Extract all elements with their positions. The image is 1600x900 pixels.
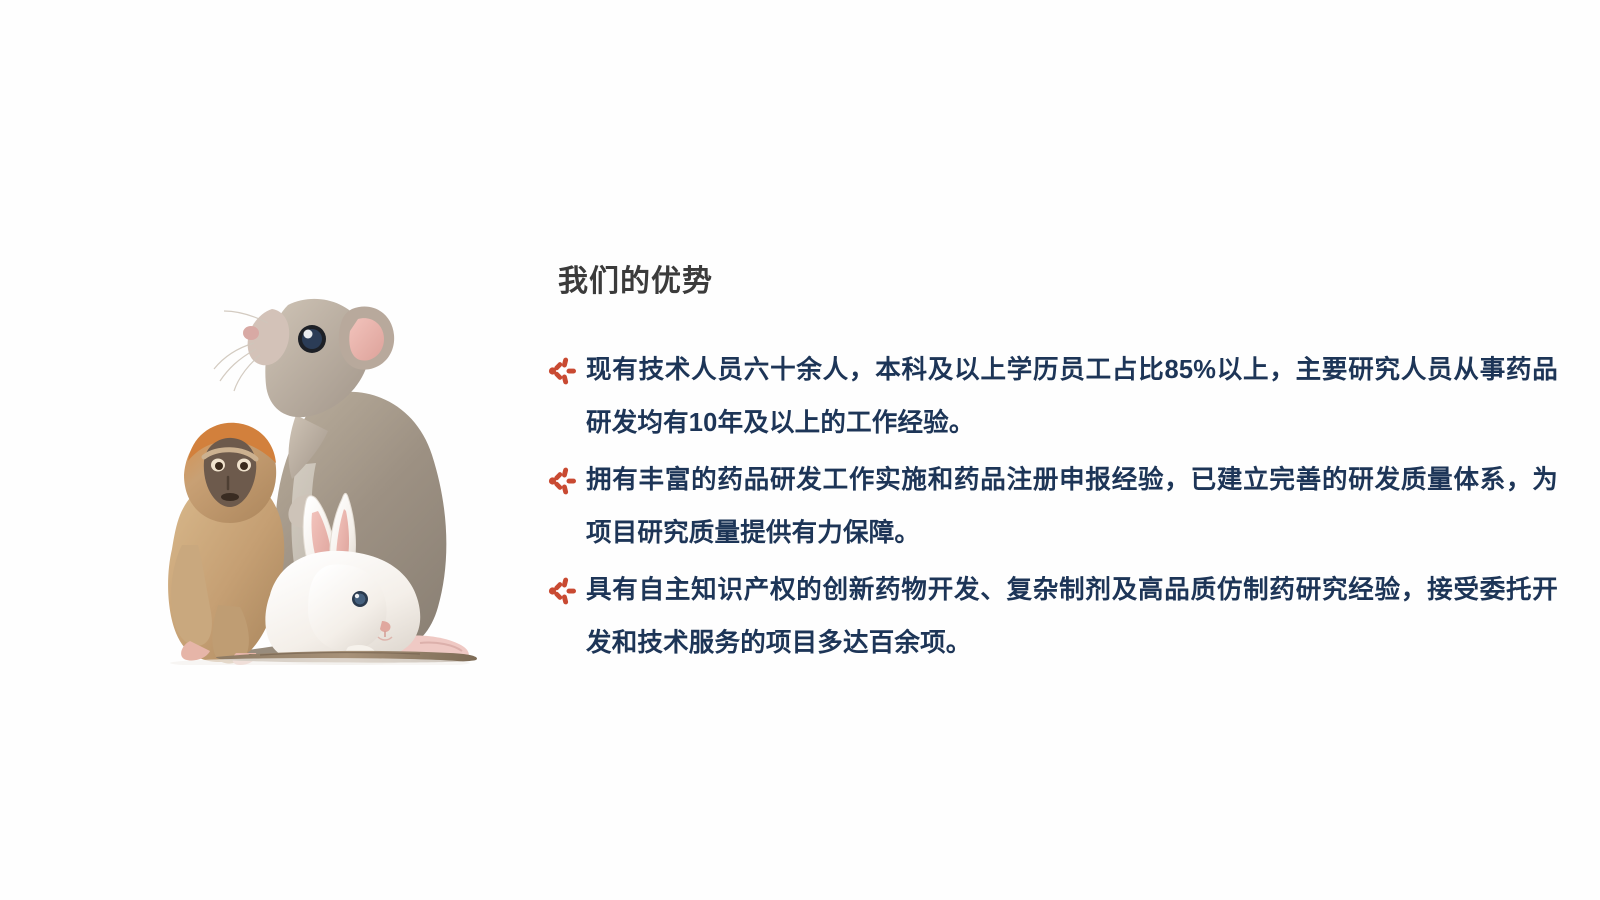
list-item: 具有自主知识产权的创新药物开发、复杂制剂及高品质仿制药研究经验，接受委托开发和技… xyxy=(548,564,1558,670)
list-item: 现有技术人员六十余人，本科及以上学历员工占比85%以上，主要研究人员从事药品研发… xyxy=(548,344,1558,450)
asterisk-burst-icon xyxy=(548,466,578,496)
advantages-content: 我们的优势 现有技术人员六十余人，本科及以上 xyxy=(548,258,1558,674)
list-item-text: 具有自主知识产权的创新药物开发、复杂制剂及高品质仿制药研究经验，接受委托开发和技… xyxy=(586,564,1558,670)
slide-canvas: 我们的优势 现有技术人员六十余人，本科及以上 xyxy=(0,0,1600,900)
advantages-list: 现有技术人员六十余人，本科及以上学历员工占比85%以上，主要研究人员从事药品研发… xyxy=(548,344,1558,670)
list-item: 拥有丰富的药品研发工作实施和药品注册申报经验，已建立完善的研发质量体系，为项目研… xyxy=(548,454,1558,560)
lab-animals-illustration xyxy=(120,265,520,665)
asterisk-burst-icon xyxy=(548,356,578,386)
asterisk-burst-icon xyxy=(548,576,578,606)
list-item-text: 现有技术人员六十余人，本科及以上学历员工占比85%以上，主要研究人员从事药品研发… xyxy=(586,344,1558,450)
page-title: 我们的优势 xyxy=(558,258,1558,306)
list-item-text: 拥有丰富的药品研发工作实施和药品注册申报经验，已建立完善的研发质量体系，为项目研… xyxy=(586,454,1558,560)
